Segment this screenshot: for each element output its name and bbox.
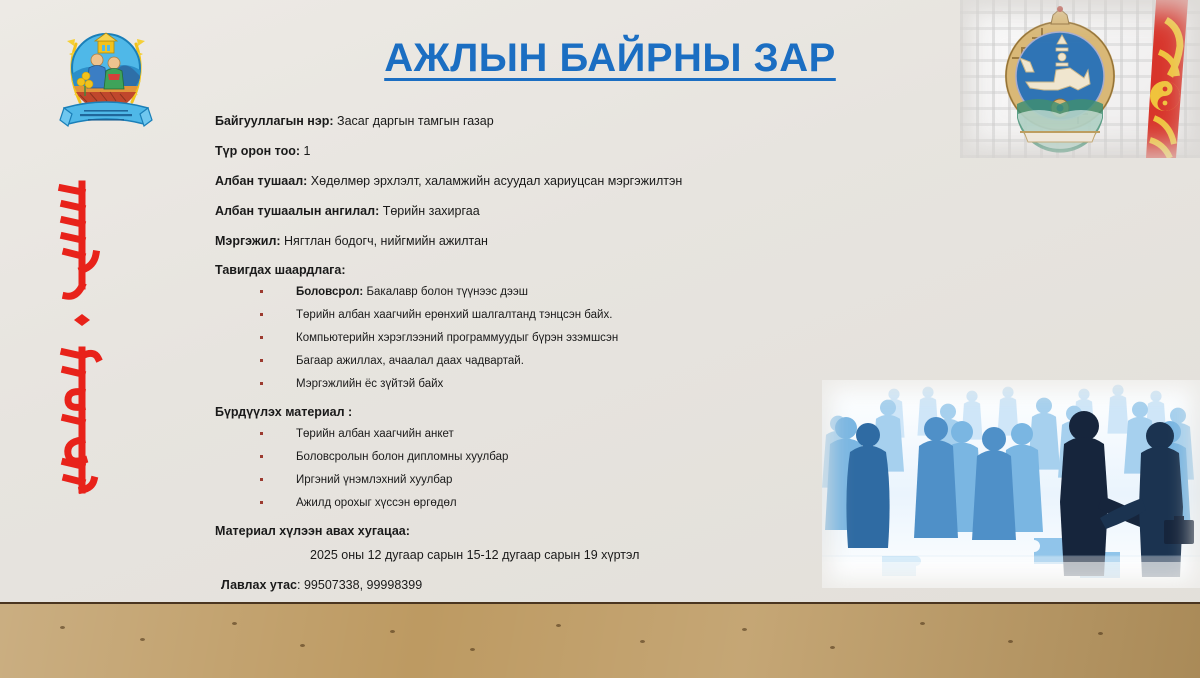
materials-list: Төрийн албан хаагчийн анкет Боловсролын … <box>215 427 835 510</box>
field-value: 1 <box>304 144 311 158</box>
list-item: Төрийн албан хаагчийн ерөнхий шалгалтанд… <box>260 308 835 322</box>
photo-vignette <box>822 380 1200 588</box>
list-item: Иргэний үнэмлэхний хуулбар <box>260 473 835 487</box>
list-item-bold: Боловсрол: <box>296 286 363 298</box>
list-item: Компьютерийн хэрэглээний программуудыг б… <box>260 331 835 345</box>
field-label: Мэргэжил: <box>215 234 281 248</box>
requirements-heading: Тавигдах шаардлага: <box>215 263 835 277</box>
list-item-text: Иргэний үнэмлэхний хуулбар <box>296 474 452 486</box>
materials-heading: Бүрдүүлэх материал : <box>215 405 835 419</box>
mongolian-state-emblem-photo <box>960 0 1200 158</box>
province-emblem-graphic <box>56 16 156 134</box>
field-label: Байгууллагын нэр: <box>215 114 334 128</box>
field-row-organization: Байгууллагын нэр: Засаг даргын тамгын га… <box>215 113 835 129</box>
job-announcement-poster: АЖЛЫН БАЙРНЫ ЗАР Байгууллагын нэр: Засаг… <box>0 0 1200 678</box>
list-item-text: Төрийн албан хаагчийн анкет <box>296 428 454 440</box>
field-value: Төрийн захиргаа <box>383 204 480 218</box>
deadline-value: 2025 оны 12 дугаар сарын 15-12 дугаар са… <box>310 548 835 562</box>
contact-separator: : <box>297 578 304 592</box>
list-item: Боловсрол: Бакалавр болон түүнээс дээш <box>260 285 835 299</box>
list-item: Багаар ажиллах, ачаалал даах чадвартай. <box>260 354 835 368</box>
announcement-body: Байгууллагын нэр: Засаг даргын тамгын га… <box>215 113 835 592</box>
field-row-position: Албан тушаал: Хөдөлмөр эрхлэлт, халамжий… <box>215 173 835 189</box>
wooden-floor <box>0 602 1200 678</box>
mongol-script-glyphs <box>52 178 116 498</box>
list-item-text: Бакалавр болон түүнээс дээш <box>366 286 528 298</box>
list-item-text: Ажилд орохыг хүссэн өргөдөл <box>296 497 457 509</box>
list-item-text: Төрийн албан хаагчийн ерөнхий шалгалтанд… <box>296 309 612 321</box>
list-item-text: Багаар ажиллах, ачаалал даах чадвартай. <box>296 355 524 367</box>
traditional-mongolian-vertical-script <box>52 178 116 498</box>
deadline-heading: Материал хүлээн авах хугацаа: <box>215 524 835 538</box>
province-emblem <box>56 16 156 134</box>
contact-label: Лавлах утас <box>221 578 297 592</box>
field-row-position-category: Албан тушаалын ангилал: Төрийн захиргаа <box>215 203 835 219</box>
field-value: Хөдөлмөр эрхлэлт, халамжийн асуудал хари… <box>311 174 682 188</box>
list-item-text: Боловсролын болон дипломны хуулбар <box>296 451 508 463</box>
photo-vignette <box>960 0 1200 158</box>
requirements-list: Боловсрол: Бакалавр болон түүнээс дээш Т… <box>215 285 835 391</box>
list-item: Мэргэжлийн ёс зүйтэй байх <box>260 377 835 391</box>
business-people-photo <box>822 380 1200 588</box>
field-row-profession: Мэргэжил: Нягтлан бодогч, нийгмийн ажилт… <box>215 233 835 249</box>
list-item: Боловсролын болон дипломны хуулбар <box>260 450 835 464</box>
list-item: Ажилд орохыг хүссэн өргөдөл <box>260 496 835 510</box>
floor-sheen <box>0 604 1200 678</box>
field-value: Нягтлан бодогч, нийгмийн ажилтан <box>284 234 488 248</box>
page-title: АЖЛЫН БАЙРНЫ ЗАР <box>260 36 960 81</box>
field-row-vacancy-count: Түр орон тоо: 1 <box>215 143 835 159</box>
field-label: Түр орон тоо: <box>215 144 300 158</box>
list-item-text: Компьютерийн хэрэглээний программуудыг б… <box>296 332 618 344</box>
field-value: Засаг даргын тамгын газар <box>337 114 494 128</box>
field-label: Албан тушаал: <box>215 174 307 188</box>
contact-value: 99507338, 99998399 <box>304 578 422 592</box>
list-item: Төрийн албан хаагчийн анкет <box>260 427 835 441</box>
field-label: Албан тушаалын ангилал: <box>215 204 379 218</box>
contact-row: Лавлах утас: 99507338, 99998399 <box>221 578 835 592</box>
list-item-text: Мэргэжлийн ёс зүйтэй байх <box>296 378 443 390</box>
